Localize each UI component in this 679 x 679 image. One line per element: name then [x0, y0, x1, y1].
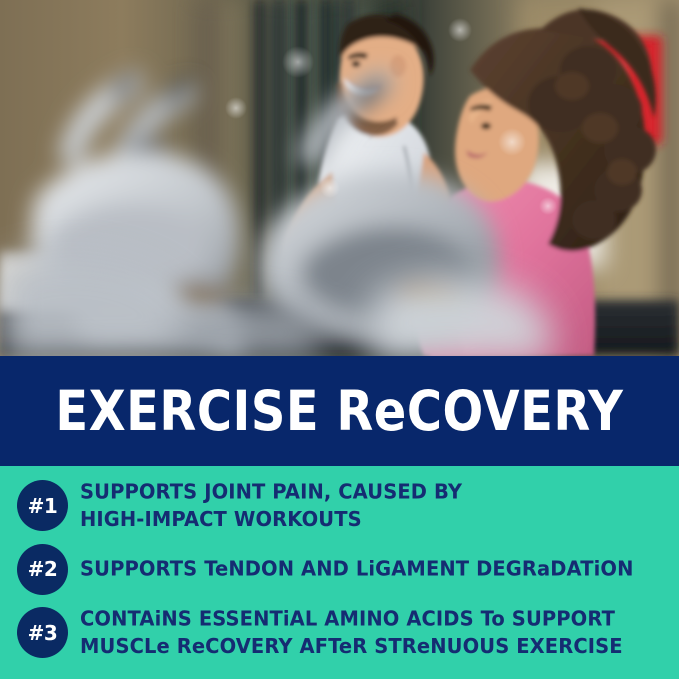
- gym-photo: [0, 0, 679, 356]
- page-title: EXERCISE ReCOVERY: [56, 383, 624, 438]
- benefits-list: #1 SUPPORTS JOINT PAIN, CAUSED BY HIGH-I…: [0, 466, 679, 679]
- benefit-text-2: SUPPORTS TeNDON AND LiGAMENT DEGRaDATiON: [80, 556, 634, 583]
- benefit-line: MUSCLe ReCOVERY AFTeR STReNUOUS EXERCISE: [80, 633, 623, 660]
- list-item: #2 SUPPORTS TeNDON AND LiGAMENT DEGRaDAT…: [0, 544, 679, 595]
- gym-photo-illustration: [0, 0, 679, 356]
- list-item: #1 SUPPORTS JOINT PAIN, CAUSED BY HIGH-I…: [0, 480, 679, 532]
- benefit-text-3: CONTAiNS ESSENTiAL AMINO ACIDS To SUPPOR…: [80, 605, 623, 660]
- benefit-line: SUPPORTS JOINT PAIN, CAUSED BY: [80, 478, 462, 505]
- title-band: EXERCISE ReCOVERY: [0, 356, 679, 466]
- exercise-recovery-infographic: EXERCISE ReCOVERY #1 SUPPORTS JOINT PAIN…: [0, 0, 679, 679]
- list-item: #3 CONTAiNS ESSENTiAL AMINO ACIDS To SUP…: [0, 607, 679, 659]
- badge-number-3: #3: [17, 607, 68, 658]
- badge-number-1: #1: [17, 480, 68, 531]
- badge-number-2: #2: [17, 544, 68, 595]
- benefit-line: SUPPORTS TeNDON AND LiGAMENT DEGRaDATiON: [80, 556, 634, 583]
- benefit-text-1: SUPPORTS JOINT PAIN, CAUSED BY HIGH-IMPA…: [80, 478, 462, 533]
- benefit-line: HIGH-IMPACT WORKOUTS: [80, 506, 462, 533]
- benefit-line: CONTAiNS ESSENTiAL AMINO ACIDS To SUPPOR…: [80, 605, 623, 632]
